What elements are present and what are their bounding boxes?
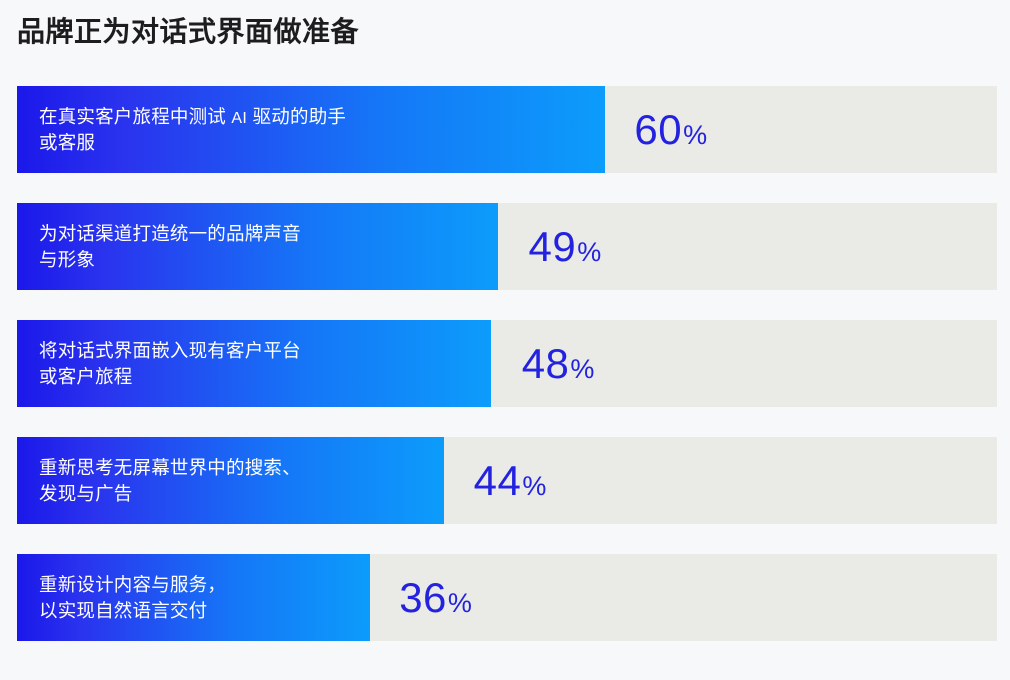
bar-value-number-2: 49: [529, 226, 577, 268]
bar-value-1: 60%: [634, 109, 707, 151]
percent-sign-5: %: [448, 590, 473, 617]
bar-fill-4: 重新思考无屏幕世界中的搜索、发现与广告: [17, 437, 444, 524]
bar-row: 在真实客户旅程中测试 AI 驱动的助手或客服 60%: [17, 86, 997, 173]
bar-row: 将对话式界面嵌入现有客户平台或客户旅程 48%: [17, 320, 997, 407]
bar-value-5: 36%: [399, 577, 472, 619]
bar-fill-2: 为对话渠道打造统一的品牌声音与形象: [17, 203, 498, 290]
bar-value-number-5: 36: [399, 577, 447, 619]
page-title: 品牌正为对话式界面做准备: [17, 14, 359, 49]
bar-row: 为对话渠道打造统一的品牌声音与形象 49%: [17, 203, 997, 290]
bar-fill-1: 在真实客户旅程中测试 AI 驱动的助手或客服: [17, 86, 605, 173]
bar-chart: 在真实客户旅程中测试 AI 驱动的助手或客服 60% 为对话渠道打造统一的品牌声…: [17, 86, 997, 641]
bar-value-3: 48%: [522, 343, 595, 385]
bar-fill-5: 重新设计内容与服务，以实现自然语言交付: [17, 554, 370, 641]
bar-row: 重新思考无屏幕世界中的搜索、发现与广告 44%: [17, 437, 997, 524]
bar-label-3: 将对话式界面嵌入现有客户平台或客户旅程: [39, 338, 301, 389]
bar-label-5: 重新设计内容与服务，以实现自然语言交付: [39, 572, 226, 623]
percent-sign-2: %: [577, 239, 602, 266]
bar-row: 重新设计内容与服务，以实现自然语言交付 36%: [17, 554, 997, 641]
bar-value-4: 44%: [474, 460, 547, 502]
bar-label-1: 在真实客户旅程中测试 AI 驱动的助手或客服: [39, 104, 346, 156]
bar-value-2: 49%: [529, 226, 602, 268]
percent-sign-1: %: [683, 122, 708, 149]
bar-label-2: 为对话渠道打造统一的品牌声音与形象: [39, 221, 301, 272]
percent-sign-3: %: [570, 356, 595, 383]
chart-page: 品牌正为对话式界面做准备 在真实客户旅程中测试 AI 驱动的助手或客服 60% …: [0, 0, 1010, 680]
bar-value-number-1: 60: [634, 109, 682, 151]
bar-value-number-3: 48: [522, 343, 570, 385]
bar-fill-3: 将对话式界面嵌入现有客户平台或客户旅程: [17, 320, 491, 407]
bar-value-number-4: 44: [474, 460, 522, 502]
bar-label-4: 重新思考无屏幕世界中的搜索、发现与广告: [39, 455, 301, 506]
percent-sign-4: %: [522, 473, 547, 500]
